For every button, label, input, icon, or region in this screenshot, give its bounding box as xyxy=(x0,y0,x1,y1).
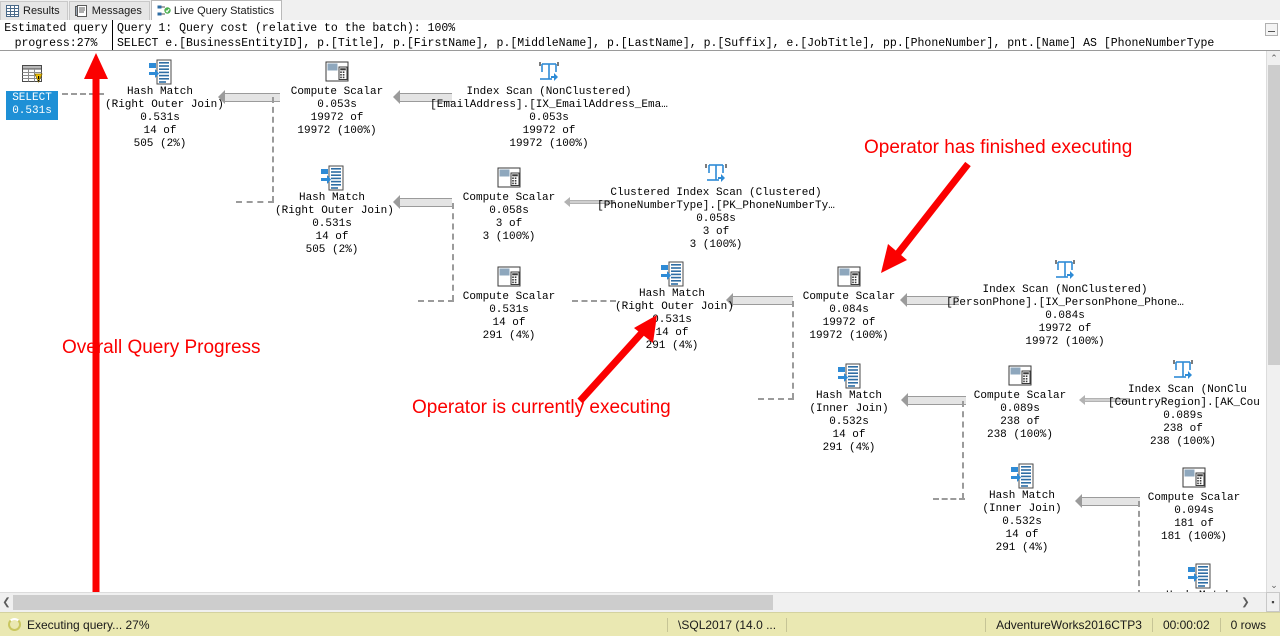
node-rows: 19972 of xyxy=(940,323,1190,336)
arrow-computescalar2-hashmatch2 xyxy=(400,198,452,207)
live-stats-icon xyxy=(157,5,170,17)
node-time: 0.531s xyxy=(275,218,389,231)
node-subtitle: [EmailAddress].[IX_EmailAddress_Ema… xyxy=(404,99,694,112)
annotation-arrow-finished-executing xyxy=(850,156,990,286)
connector-hashmatch2-down xyxy=(452,203,454,301)
node-total: 19972 (100%) xyxy=(283,125,391,138)
node-total: 3 (100%) xyxy=(455,231,563,244)
select-node[interactable]: SELECT 0.531s xyxy=(6,63,58,120)
compute-scalar-icon xyxy=(1138,465,1250,491)
node-time: 0.084s xyxy=(795,304,903,317)
node-time: 0.532s xyxy=(795,416,903,429)
query-cost-line: Query 1: Query cost (relative to the bat… xyxy=(117,21,1264,36)
index-scan-icon xyxy=(592,160,840,186)
annotation-overall-query-progress: Overall Query Progress xyxy=(62,337,261,359)
grid-icon xyxy=(6,5,19,17)
node-time: 0.531s xyxy=(455,304,563,317)
node-rows: 14 of xyxy=(455,317,563,330)
node-rows: 19972 of xyxy=(404,125,694,138)
connector-hashmatch4-down xyxy=(962,401,964,499)
connector-hashmatch1-down xyxy=(272,97,274,202)
plan-node-hash-match-6[interactable]: Hash Match xyxy=(1145,563,1253,592)
annotation-arrow-currently-executing xyxy=(560,296,690,406)
hash-match-icon xyxy=(275,165,389,191)
node-rows: 14 of xyxy=(968,529,1076,542)
status-server: \SQL2017 (14.0 ... xyxy=(667,618,786,632)
query-plan-header: Estimated query progress:27% Query 1: Qu… xyxy=(0,20,1280,51)
connector-to-hashmatch5 xyxy=(933,498,965,500)
plan-node-hash-match-4[interactable]: Hash Match (Inner Join) 0.532s 14 of 291… xyxy=(795,363,903,455)
connector-to-hashmatch2 xyxy=(236,201,274,203)
node-total: 238 (100%) xyxy=(965,429,1075,442)
hash-match-icon xyxy=(615,261,729,287)
node-time: 0.532s xyxy=(968,516,1076,529)
node-title: Index Scan (NonClustered) xyxy=(404,86,694,99)
node-title: Hash Match xyxy=(275,192,389,205)
plan-node-compute-scalar-3[interactable]: Compute Scalar 0.531s 14 of 291 (4%) xyxy=(455,264,563,343)
status-database: AdventureWorks2016CTP3 xyxy=(985,618,1152,632)
query-text: Query 1: Query cost (relative to the bat… xyxy=(114,20,1264,50)
compute-scalar-icon xyxy=(283,59,391,85)
scroll-left-button[interactable]: ❮ xyxy=(0,595,13,610)
node-rows: 3 of xyxy=(455,218,563,231)
node-subtitle: [CountryRegion].[AK_Cou xyxy=(1108,397,1280,410)
node-title: Hash Match xyxy=(968,490,1076,503)
plan-node-compute-scalar-6[interactable]: Compute Scalar 0.094s 181 of 181 (100%) xyxy=(1138,465,1250,544)
tab-results[interactable]: Results xyxy=(0,1,68,20)
results-pane-tabstrip: Results Messages xyxy=(0,0,1280,21)
node-time: 0.058s xyxy=(455,205,563,218)
scroll-up-button[interactable]: ⌃ xyxy=(1268,51,1280,65)
node-rows: 3 of xyxy=(592,226,840,239)
node-total: 291 (4%) xyxy=(968,542,1076,555)
compute-scalar-icon xyxy=(455,264,563,290)
plan-node-index-scan-emailaddress[interactable]: Index Scan (NonClustered) [EmailAddress]… xyxy=(404,59,694,151)
vertical-scroll-thumb[interactable] xyxy=(1268,65,1280,365)
select-result-icon xyxy=(6,63,58,91)
node-rows: 14 of xyxy=(795,429,903,442)
tab-live-query-statistics-label: Live Query Statistics xyxy=(174,5,274,17)
plan-node-compute-scalar-1[interactable]: Compute Scalar 0.053s 19972 of 19972 (10… xyxy=(283,59,391,138)
node-rows: 181 of xyxy=(1138,518,1250,531)
plan-node-hash-match-2[interactable]: Hash Match (Right Outer Join) 0.531s 14 … xyxy=(275,165,389,257)
node-subtitle: (Inner Join) xyxy=(795,403,903,416)
index-scan-icon xyxy=(1108,357,1258,383)
live-query-statistics-window: Results Messages xyxy=(0,0,1280,636)
annotation-arrow-overall-progress xyxy=(78,51,128,592)
node-total: 19972 (100%) xyxy=(795,330,903,343)
connector-to-hashmatch4 xyxy=(758,398,794,400)
annotation-operator-finished-executing: Operator has finished executing xyxy=(864,137,1132,159)
node-total: 3 (100%) xyxy=(592,239,840,252)
node-title: Clustered Index Scan (Clustered) xyxy=(592,187,840,200)
index-scan-icon xyxy=(404,59,694,85)
annotation-operator-currently-executing: Operator is currently executing xyxy=(412,397,671,419)
node-time: 0.053s xyxy=(404,112,694,125)
hash-match-icon xyxy=(795,363,903,389)
node-total: 238 (100%) xyxy=(1108,436,1258,449)
node-total: 181 (100%) xyxy=(1138,531,1250,544)
status-left: Executing query... 27% xyxy=(0,618,150,632)
node-title: Compute Scalar xyxy=(455,192,563,205)
arrow-computescalar5-hashmatch4 xyxy=(908,396,966,405)
estimated-progress-line1: Estimated query xyxy=(0,21,112,36)
plan-node-compute-scalar-5[interactable]: Compute Scalar 0.089s 238 of 238 (100%) xyxy=(965,363,1075,442)
node-title: Compute Scalar xyxy=(1138,492,1250,505)
node-rows: 238 of xyxy=(965,416,1075,429)
estimated-progress-line2: progress:27% xyxy=(0,36,112,51)
node-rows: 19972 of xyxy=(795,317,903,330)
node-title: Compute Scalar xyxy=(965,390,1075,403)
hash-match-icon xyxy=(968,463,1076,489)
horizontal-scroll-thumb[interactable] xyxy=(13,595,773,610)
plan-node-hash-match-5[interactable]: Hash Match (Inner Join) 0.532s 14 of 291… xyxy=(968,463,1076,555)
node-subtitle: (Right Outer Join) xyxy=(275,205,389,218)
connector-to-computescalar3 xyxy=(418,300,454,302)
node-total: 291 (4%) xyxy=(455,330,563,343)
message-icon xyxy=(75,5,88,17)
plan-node-compute-scalar-2[interactable]: Compute Scalar 0.058s 3 of 3 (100%) xyxy=(455,165,563,244)
node-title: Compute Scalar xyxy=(455,291,563,304)
node-time: 0.094s xyxy=(1138,505,1250,518)
plan-node-clustered-index-scan-phonenumbertype[interactable]: Clustered Index Scan (Clustered) [PhoneN… xyxy=(592,160,840,252)
status-spacer xyxy=(815,618,985,632)
tab-live-query-statistics[interactable]: Live Query Statistics xyxy=(151,0,282,20)
query-sql-line: SELECT e.[BusinessEntityID], p.[Title], … xyxy=(117,36,1264,50)
status-right: \SQL2017 (14.0 ... AdventureWorks2016CTP… xyxy=(667,613,1280,636)
arrow-computescalar4-hashmatch3 xyxy=(733,296,793,305)
connector-hashmatch3-down xyxy=(792,301,794,399)
node-title: Hash Match xyxy=(795,390,903,403)
spinner-icon xyxy=(8,618,21,631)
node-total: 19972 (100%) xyxy=(404,138,694,151)
arrow-computescalar6-hashmatch5 xyxy=(1082,497,1140,506)
node-time: 0.053s xyxy=(283,99,391,112)
hash-match-icon xyxy=(1145,563,1253,589)
plan-node-index-scan-countryregion[interactable]: Index Scan (NonClu [CountryRegion].[AK_C… xyxy=(1108,357,1280,449)
node-time: 0.089s xyxy=(965,403,1075,416)
select-node-label: SELECT 0.531s xyxy=(6,91,58,120)
zoom-corner-button[interactable]: ▪ xyxy=(1266,592,1280,612)
status-elapsed: 00:00:02 xyxy=(1152,618,1220,632)
scroll-right-button[interactable]: ❯ xyxy=(1239,595,1252,610)
horizontal-scrollbar[interactable]: ❮ ❯ xyxy=(0,592,1266,612)
node-time: 0.089s xyxy=(1108,410,1258,423)
node-subtitle: (Inner Join) xyxy=(968,503,1076,516)
node-subtitle: [PhoneNumberType].[PK_PhoneNumberTy… xyxy=(592,200,840,213)
node-time: 0.084s xyxy=(940,310,1190,323)
node-title: Compute Scalar xyxy=(283,86,391,99)
status-text: Executing query... 27% xyxy=(27,618,150,632)
node-title: Index Scan (NonClu xyxy=(1108,384,1280,397)
execution-plan-canvas[interactable]: SELECT 0.531s xyxy=(0,51,1280,592)
collapse-header-button[interactable] xyxy=(1265,23,1278,36)
vertical-scrollbar[interactable]: ⌃ ⌄ xyxy=(1266,51,1280,592)
node-total: 291 (4%) xyxy=(795,442,903,455)
node-total: 505 (2%) xyxy=(275,244,389,257)
node-subtitle: [PersonPhone].[IX_PersonPhone_Phone… xyxy=(940,297,1190,310)
status-user xyxy=(786,618,815,632)
estimated-query-progress: Estimated query progress:27% xyxy=(0,20,113,50)
node-rows: 238 of xyxy=(1108,423,1258,436)
node-rows: 14 of xyxy=(275,231,389,244)
node-title: Compute Scalar xyxy=(795,291,903,304)
compute-scalar-icon xyxy=(455,165,563,191)
status-bar: Executing query... 27% \SQL2017 (14.0 ..… xyxy=(0,612,1280,636)
compute-scalar-icon xyxy=(965,363,1075,389)
tab-results-label: Results xyxy=(23,5,60,17)
status-rows: 0 rows xyxy=(1220,618,1280,632)
node-time: 0.058s xyxy=(592,213,840,226)
tab-messages[interactable]: Messages xyxy=(69,1,150,20)
tab-messages-label: Messages xyxy=(92,5,142,17)
scroll-down-button[interactable]: ⌄ xyxy=(1268,578,1280,592)
node-total: 19972 (100%) xyxy=(940,336,1190,349)
node-rows: 19972 of xyxy=(283,112,391,125)
